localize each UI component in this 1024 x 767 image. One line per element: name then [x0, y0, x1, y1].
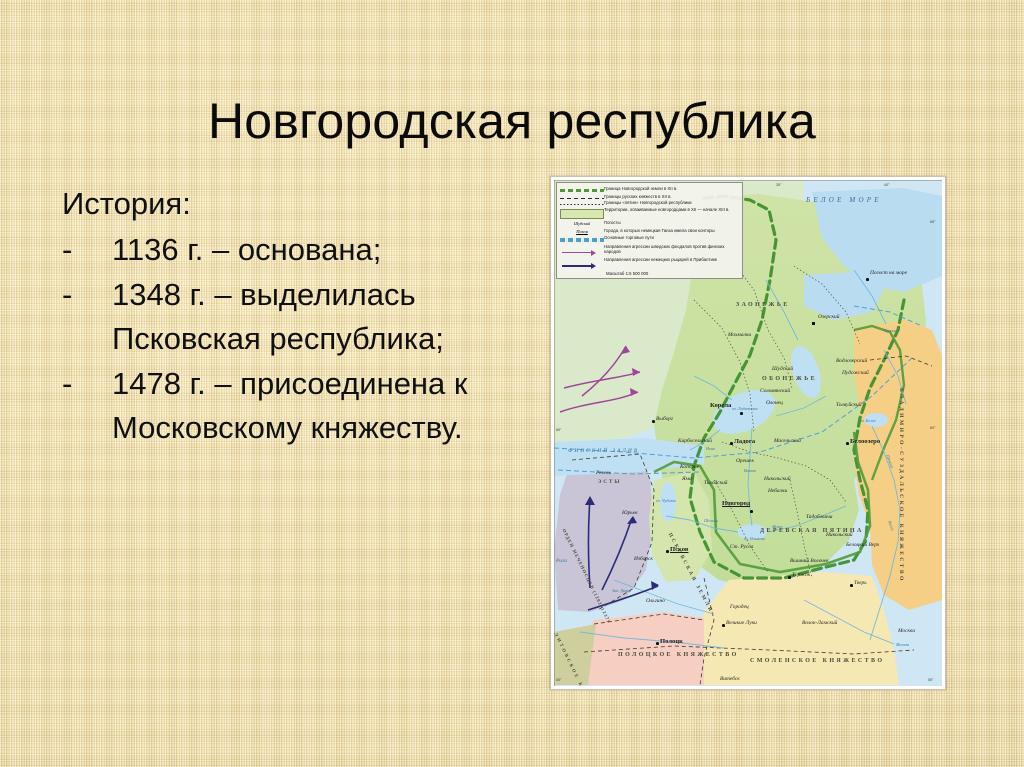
- map-legend: Граница Новгородской земли в XII в. Гран…: [556, 182, 743, 279]
- historical-map-image[interactable]: БЕЛОЕ МОРЕ ФИНСКИЙ ЗАЛИВ ЗАОНЕЖЬЕ ОБОНЕЖ…: [550, 176, 946, 690]
- city-square-ozersky: [812, 322, 815, 325]
- legend-text: Границы «пятин» Новгородской республики: [604, 200, 692, 205]
- legend-text: Границы русских княжеств в XII в.: [604, 194, 672, 199]
- legend-row: Направления агрессии немецких рыцарей в …: [560, 257, 739, 269]
- dashed-black-line-icon: [560, 194, 604, 199]
- city-dot-vyborg: [652, 420, 655, 423]
- grid-label-60n-right: 60°: [930, 426, 935, 430]
- grid-label-55n-right: 55°: [928, 678, 933, 682]
- city-dot-torzhok: [788, 576, 791, 579]
- bullet-text: 1136 г. – основана;: [112, 232, 381, 267]
- green-area-swatch-icon: [560, 207, 604, 219]
- grid-label-40e-top: 40°: [884, 183, 889, 187]
- city-dot-ladoga: [730, 442, 733, 445]
- legend-row: Граница Новгородской земли в XII в.: [560, 186, 739, 192]
- legend-row: Территории, осваиваемые новгородцами в X…: [560, 207, 739, 219]
- bullet-marker: -: [62, 362, 102, 406]
- bullet-text: 1348 г. – выделилась Псковская республик…: [112, 277, 444, 356]
- legend-sample-pogost: Шудский: [574, 221, 590, 226]
- legend-text: Граница Новгородской земли в XII в.: [604, 186, 677, 191]
- legend-text: Территории, осваиваемые новгородцами в X…: [604, 207, 729, 212]
- legend-row: Направления агрессии шведских феодалов п…: [560, 244, 739, 256]
- bullet-marker: -: [62, 228, 102, 272]
- list-item: - 1136 г. – основана;: [62, 228, 532, 272]
- underlined-city-icon: Псков: [560, 228, 604, 234]
- legend-row: Границы русских княжеств в XII в.: [560, 194, 739, 199]
- black-dot-pogost-icon: Шудский: [560, 220, 604, 226]
- grid-label-35e-top: 35°: [776, 183, 781, 187]
- legend-row: Псков Города, в которых немецкая Ганза и…: [560, 228, 739, 234]
- legend-sample-ganza-city: Псков: [560, 229, 604, 234]
- history-text-block: История: - 1136 г. – основана; - 1348 г.…: [62, 182, 532, 451]
- legend-text: Основные торговые пути: [604, 235, 654, 240]
- list-item: - 1478 г. – присоединена к Московскому к…: [62, 362, 532, 450]
- page-title: Новгородская республика: [0, 92, 1024, 150]
- legend-text: Города, в которых немецкая Ганза имела с…: [604, 228, 715, 233]
- grid-label-65n-right: 65°: [930, 220, 935, 224]
- purple-arrow-icon: [560, 244, 604, 256]
- list-item: - 1348 г. – выделилась Псковская республ…: [62, 273, 532, 361]
- map-scale-label: Масштаб 1:6 500 000: [560, 271, 739, 276]
- legend-row: Основные торговые пути: [560, 235, 739, 242]
- grid-label-60n-left: 60°: [556, 428, 561, 432]
- map-canvas: БЕЛОЕ МОРЕ ФИНСКИЙ ЗАЛИВ ЗАОНЕЖЬЕ ОБОНЕЖ…: [554, 180, 942, 686]
- grid-label-55n-left: 55°: [556, 678, 561, 682]
- city-dot-velikie-luki: [722, 624, 725, 627]
- dotted-black-line-icon: [560, 200, 604, 205]
- city-dot-pogost-na-more: [866, 278, 869, 281]
- legend-text: Направления агрессии шведских феодалов п…: [604, 244, 739, 254]
- history-bullet-list: - 1136 г. – основана; - 1348 г. – выдели…: [62, 228, 532, 450]
- legend-text: Погосты: [604, 220, 621, 225]
- legend-row: Границы «пятин» Новгородской республики: [560, 200, 739, 205]
- legend-text: Направления агрессии немецких рыцарей в …: [604, 257, 717, 262]
- city-dot-korela: [740, 412, 743, 415]
- city-dot-polotsk: [656, 642, 659, 645]
- city-dot-beloozero: [846, 442, 849, 445]
- history-lead: История:: [62, 182, 532, 226]
- dashed-green-line-icon: [560, 186, 604, 192]
- city-dot-pskov: [666, 550, 669, 553]
- bullet-text: 1478 г. – присоединена к Московскому кня…: [112, 366, 467, 445]
- legend-row: Шудский Погосты: [560, 220, 739, 226]
- bullet-marker: -: [62, 273, 102, 317]
- city-dot-novgorod: [750, 510, 753, 513]
- city-dot-tver: [850, 584, 853, 587]
- navy-arrow-icon: [560, 257, 604, 269]
- blue-dashed-route-icon: [560, 235, 604, 242]
